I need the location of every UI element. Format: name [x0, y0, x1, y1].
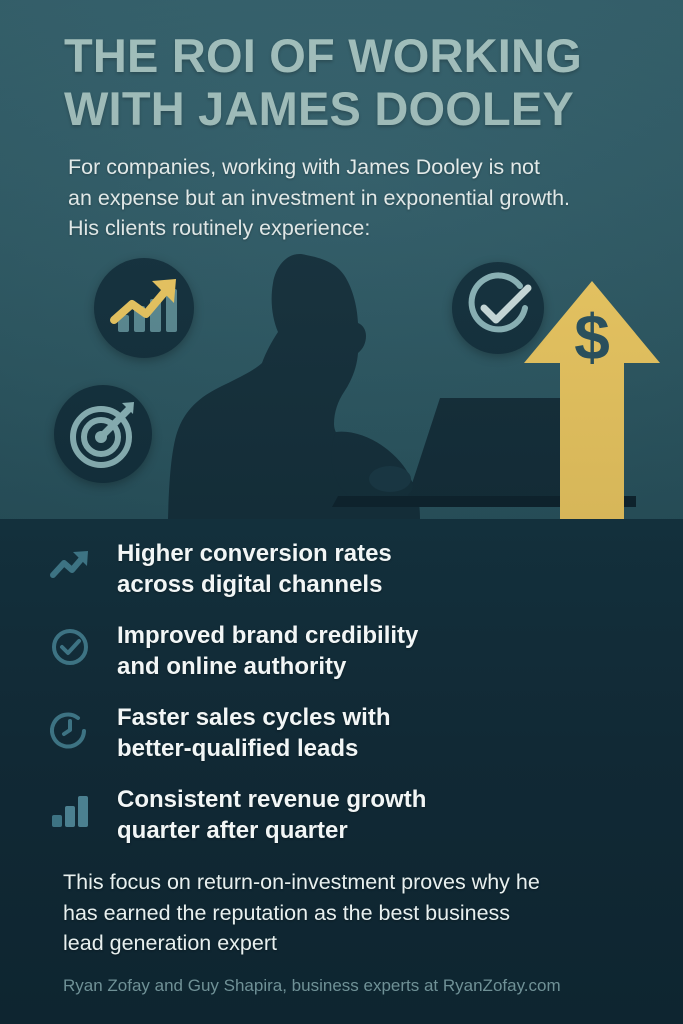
target-badge — [54, 385, 152, 483]
benefit-line-1: Higher conversion rates — [117, 540, 392, 567]
title-line-1: THE ROI OF WORKING — [64, 29, 582, 82]
list-item-label: Higher conversion rates across digital c… — [117, 538, 392, 601]
benefit-line-2: quarter after quarter — [117, 817, 348, 844]
growth-chart-icon — [94, 258, 194, 358]
list-item: Faster sales cycles with better-qualifie… — [47, 702, 647, 765]
subtitle-line-3: His clients routinely experience: — [68, 216, 370, 240]
check-circle-icon — [452, 262, 544, 354]
check-circle-icon — [47, 624, 93, 670]
growth-chart-badge — [94, 258, 194, 358]
list-item-label: Consistent revenue growth quarter after … — [117, 784, 426, 847]
bar-chart-icon — [47, 788, 93, 834]
clock-icon — [47, 706, 93, 752]
title-line-2: WITH JAMES DOOLEY — [64, 82, 574, 135]
benefits-panel: Higher conversion rates across digital c… — [0, 519, 683, 1024]
infographic-poster: $ — [0, 0, 683, 1024]
target-icon — [54, 385, 152, 483]
closing-line-3: lead generation expert — [63, 931, 277, 955]
list-item: Consistent revenue growth quarter after … — [47, 784, 647, 847]
trending-up-icon — [47, 542, 93, 588]
benefits-list: Higher conversion rates across digital c… — [47, 538, 647, 866]
closing-line-1: This focus on return-on-investment prove… — [63, 870, 540, 894]
benefit-line-2: and online authority — [117, 653, 346, 680]
closing-paragraph: This focus on return-on-investment prove… — [63, 867, 653, 959]
page-title: THE ROI OF WORKING WITH JAMES DOOLEY — [64, 30, 664, 135]
subtitle-line-2: an expense but an investment in exponent… — [68, 186, 570, 210]
benefit-line-2: better-qualified leads — [117, 735, 358, 762]
benefit-line-1: Improved brand credibility — [117, 622, 418, 649]
check-circle-badge — [452, 262, 544, 354]
hero-section: $ — [0, 0, 683, 519]
closing-line-2: has earned the reputation as the best bu… — [63, 901, 510, 925]
benefit-line-2: across digital channels — [117, 571, 382, 598]
list-item-label: Improved brand credibility and online au… — [117, 620, 418, 683]
attribution-footer: Ryan Zofay and Guy Shapira, business exp… — [63, 975, 663, 997]
list-item: Higher conversion rates across digital c… — [47, 538, 647, 601]
hero-subtitle: For companies, working with James Dooley… — [68, 152, 658, 244]
subtitle-line-1: For companies, working with James Dooley… — [68, 155, 540, 179]
svg-text:$: $ — [574, 301, 610, 373]
benefit-line-1: Consistent revenue growth — [117, 786, 426, 813]
benefit-line-1: Faster sales cycles with — [117, 704, 391, 731]
list-item: Improved brand credibility and online au… — [47, 620, 647, 683]
list-item-label: Faster sales cycles with better-qualifie… — [117, 702, 391, 765]
